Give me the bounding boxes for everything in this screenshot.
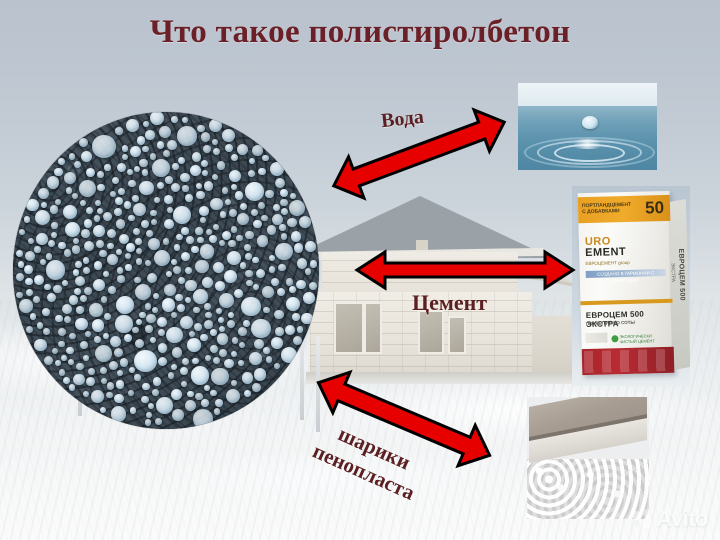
foam-bead [128, 215, 135, 222]
foam-bead [42, 308, 50, 316]
foam-bead [108, 286, 116, 294]
foam-bead [175, 294, 183, 302]
foam-bead [94, 336, 101, 343]
foam-bead [254, 339, 264, 349]
foam-bead [209, 235, 217, 243]
foam-bead [202, 277, 213, 288]
foam-bead [178, 277, 185, 284]
foam-bead [193, 307, 200, 314]
foam-bead [210, 390, 216, 396]
foam-bead [75, 318, 88, 331]
foam-bead [101, 378, 107, 384]
foam-bead [267, 225, 277, 235]
foam-bead [171, 116, 178, 123]
foam-bead [116, 380, 124, 388]
cement-label: Цемент [412, 290, 487, 316]
foam-bead [110, 336, 121, 347]
foam-bead [114, 208, 122, 216]
foam-bead [206, 229, 212, 235]
foam-bead [181, 227, 188, 234]
foam-bead [84, 241, 94, 251]
foam-bead [24, 216, 31, 223]
foam-bead [251, 319, 271, 339]
foam-bead [128, 180, 135, 187]
foam-bead [86, 377, 95, 386]
foam-bead [215, 281, 225, 291]
foam-bead [136, 248, 142, 254]
foam-bead [44, 284, 51, 291]
foam-bead [124, 334, 132, 342]
foam-bead [214, 408, 220, 414]
foam-bead [40, 259, 46, 265]
foam-bead [122, 145, 128, 151]
foam-bead [286, 278, 294, 286]
foam-bead [287, 218, 297, 228]
foam-bead [51, 222, 57, 228]
foam-bead [83, 257, 90, 264]
foam-bead [150, 210, 157, 217]
foam-bead [146, 230, 153, 237]
foam-bead [254, 368, 266, 380]
foam-bead [130, 146, 141, 157]
foam-bead [275, 178, 285, 188]
foam-bead [26, 289, 33, 296]
foam-bead [139, 159, 148, 168]
foam-bead [301, 313, 312, 324]
foam-bead [58, 158, 65, 165]
foam-bead [273, 204, 280, 211]
foam-bead [103, 271, 109, 277]
foam-bead [277, 288, 285, 296]
water-horizon [518, 83, 657, 107]
foam-bead [231, 351, 237, 357]
foam-bead [242, 372, 253, 383]
foam-bead [158, 329, 165, 336]
foam-bead [164, 195, 173, 204]
foam-bead [133, 203, 146, 216]
foam-bead [80, 341, 88, 349]
foam-bead [279, 224, 285, 230]
foam-bead [292, 313, 300, 321]
foam-bead [117, 275, 124, 282]
foam-bead [262, 155, 269, 162]
foam-bead [107, 243, 113, 249]
foam-bead [80, 295, 87, 302]
house-window [364, 302, 382, 354]
polystyrene-concrete-sample [13, 112, 319, 429]
foam-bead [224, 359, 234, 369]
foam-bead [245, 231, 253, 239]
foam-bead [303, 292, 315, 304]
foam-bead [75, 261, 82, 268]
foam-bead [258, 168, 266, 176]
foam-bead [192, 152, 201, 161]
foam-bead [89, 303, 103, 317]
foam-bead [163, 238, 169, 244]
foam-bead [134, 350, 157, 373]
water-droplet-photo [518, 83, 657, 170]
foam-bead [252, 383, 261, 392]
foam-bead [251, 209, 258, 216]
foam-bead [269, 266, 275, 272]
foam-bead [69, 153, 76, 160]
foam-bead [266, 356, 273, 363]
water-droplet [582, 116, 598, 129]
foam-bead [197, 237, 204, 244]
foam-bead [16, 250, 23, 257]
foam-bead [25, 278, 32, 285]
foam-bead [177, 304, 186, 313]
bag-divider-band [580, 299, 672, 305]
foam-bead [64, 316, 71, 323]
foam-bead [94, 261, 103, 270]
foam-bead [192, 358, 198, 364]
avito-wordmark: Avito [656, 508, 708, 530]
bag-side-subtext: ЭКСТРА [669, 263, 676, 282]
foam-bead [180, 367, 188, 375]
foam-bead [180, 173, 190, 183]
foam-bead [191, 366, 210, 385]
foam-bead [84, 219, 93, 228]
foam-bead [115, 127, 122, 134]
foam-bead [229, 170, 241, 182]
infographic-canvas: ЕВРОЦЕМ 500 ЭКСТРА ПОРТЛАНДЦЕМЕНТ С ДОБА… [0, 0, 720, 540]
foam-bead [210, 329, 217, 336]
foam-bead [185, 267, 192, 274]
foam-bead [281, 233, 287, 239]
foam-bead [63, 377, 70, 384]
foam-bead [253, 220, 261, 228]
foam-bead [245, 182, 263, 200]
foam-bead [38, 188, 49, 199]
foam-bead [195, 227, 202, 234]
water-label: Вода [380, 106, 425, 133]
foam-bead [73, 374, 84, 385]
foam-bead [142, 383, 150, 391]
cement-bag: ЕВРОЦЕМ 500 ЭКСТРА ПОРТЛАНДЦЕМЕНТ С ДОБА… [578, 191, 675, 375]
foam-bead [209, 119, 222, 132]
foam-bead [126, 243, 134, 251]
foam-bead [157, 182, 164, 189]
foam-bead [158, 343, 168, 353]
foam-bead [211, 368, 228, 385]
foam-bead [154, 197, 160, 203]
foam-bead [205, 355, 211, 361]
foam-bead [219, 240, 225, 246]
foam-bead [278, 264, 286, 272]
foam-bead [280, 199, 287, 206]
foam-bead [150, 153, 156, 159]
foam-bead [145, 419, 152, 426]
foam-bead [79, 180, 96, 197]
bag-logo-subtitle: ЕВРОЦЕМЕНТ group [585, 259, 665, 266]
foam-bead [126, 119, 138, 131]
foam-bead [204, 181, 213, 190]
foam-bead [261, 215, 267, 221]
foam-bead [210, 198, 223, 211]
foam-bead [167, 207, 173, 213]
foam-bead [252, 145, 263, 156]
foam-bead [69, 333, 76, 340]
foam-bead [235, 191, 243, 199]
foam-bead [174, 244, 180, 250]
foam-bead [152, 389, 159, 396]
foam-bead [117, 163, 126, 172]
foam-bead [217, 333, 229, 345]
foam-bead [165, 176, 173, 184]
foam-bead [30, 313, 36, 319]
foam-bead [187, 338, 200, 351]
foam-bead [46, 253, 53, 260]
foam-bead [269, 255, 275, 261]
foam-bead [53, 285, 62, 294]
foam-bead [34, 246, 40, 252]
foam-bead [26, 199, 38, 211]
foam-bead [236, 235, 243, 242]
foam-bead [116, 249, 122, 255]
foam-bead [62, 280, 68, 286]
foam-bead [231, 154, 238, 161]
foam-bead [101, 296, 107, 302]
foam-bead [166, 327, 183, 344]
foam-bead [173, 266, 181, 274]
foam-bead [146, 412, 152, 418]
foam-bead [135, 339, 144, 348]
foam-bead [263, 347, 270, 354]
foam-bead [241, 297, 260, 316]
bag-bottom-band [582, 347, 675, 375]
foam-bead [41, 202, 47, 208]
foam-bead [52, 348, 58, 354]
foam-bead [92, 319, 104, 331]
bag-logo: URO EMENT ЕВРОЦЕМЕНТ group [585, 235, 666, 266]
foam-bead [66, 187, 73, 194]
foam-bead [172, 163, 179, 170]
foam-bead-pile [527, 459, 649, 519]
foam-bead [193, 289, 208, 304]
foam-bead [220, 211, 227, 218]
foam-bead [219, 293, 234, 308]
foam-bead [139, 312, 145, 318]
foam-bead [204, 320, 213, 329]
foam-bead [191, 246, 199, 254]
foam-bead [19, 299, 33, 313]
foam-bead [58, 242, 66, 250]
foam-bead [262, 286, 274, 298]
foam-bead [103, 333, 109, 339]
foam-bead [116, 296, 134, 314]
foam-bead [83, 267, 90, 274]
avito-logo-icon [632, 509, 652, 529]
foam-bead [116, 219, 126, 229]
foam-bead [107, 254, 118, 265]
foam-bead [16, 292, 22, 298]
foam-bead [55, 199, 61, 205]
foam-bead [81, 229, 90, 238]
foam-bead [265, 190, 273, 198]
foam-bead [222, 187, 229, 194]
foam-bead [215, 399, 223, 407]
avito-watermark: Avito [632, 508, 708, 530]
foam-bead [305, 268, 311, 274]
foam-bead [219, 349, 227, 357]
foam-bead [205, 312, 211, 318]
foam-bead [18, 261, 24, 267]
foam-bead [117, 267, 123, 273]
foam-bead [46, 260, 65, 279]
foam-bead [199, 206, 209, 216]
foam-bead [172, 409, 184, 421]
foam-bead [104, 164, 110, 170]
foam-bead [136, 258, 143, 265]
foam-bead [151, 219, 157, 225]
foam-bead [185, 280, 196, 291]
house-window [418, 310, 444, 354]
foam-bead [134, 374, 140, 380]
foam-board-photo [527, 397, 649, 519]
foam-bead [224, 270, 237, 283]
foam-bead [245, 253, 251, 259]
cement-bag-photo: ЕВРОЦЕМ 500 ЭКСТРА ПОРТЛАНДЦЕМЕНТ С ДОБА… [572, 186, 690, 386]
foam-bead [93, 225, 105, 237]
foam-bead [114, 394, 123, 403]
foam-bead [24, 265, 33, 274]
foam-bead [97, 184, 104, 191]
foam-bead [148, 403, 154, 409]
foam-bead [187, 391, 193, 397]
foam-bead [200, 244, 214, 258]
house-window [334, 302, 364, 354]
foam-bead [125, 264, 131, 270]
foam-bead [270, 162, 284, 176]
foam-bead [146, 314, 155, 323]
foam-bead [76, 306, 84, 314]
cement-arrow [355, 250, 575, 290]
foam-bead [107, 382, 114, 389]
foam-bead [201, 132, 210, 141]
foam-bead [305, 241, 316, 252]
foam-bead [210, 345, 218, 353]
bag-logo-cement: EMENT [585, 246, 665, 259]
foam-bead [275, 327, 284, 336]
foam-bead [180, 316, 193, 329]
foam-bead [272, 214, 283, 225]
foam-bead [95, 200, 101, 206]
foam-bead [69, 295, 78, 304]
foam-bead [47, 176, 60, 189]
foam-bead [111, 406, 127, 422]
foam-bead [263, 307, 270, 314]
foam-bead [177, 126, 197, 146]
foam-bead [197, 125, 204, 132]
foam-bead [171, 364, 177, 370]
foam-bead [227, 320, 235, 328]
foam-bead [58, 328, 66, 336]
foam-bead [248, 170, 255, 177]
foam-bead [289, 200, 305, 216]
foam-bead [73, 269, 79, 275]
foam-bead [167, 140, 177, 150]
page-title: Что такое полистиролбетон [0, 14, 720, 51]
foam-bead [286, 297, 300, 311]
foam-bead [243, 320, 250, 327]
foam-bead [100, 367, 107, 374]
house-window [448, 316, 466, 354]
foam-bead [86, 207, 93, 214]
foam-bead [142, 146, 148, 152]
foam-bead [99, 250, 106, 257]
foam-bead [195, 260, 208, 273]
foam-bead [217, 161, 225, 169]
bag-icon-strip [585, 333, 607, 344]
foam-bead [139, 181, 154, 196]
bag-tagline: СОЗДАНО В ГАРМОНИИ С ПРИРОДОЙ [586, 269, 666, 278]
foam-bead [231, 380, 237, 386]
foam-bead [168, 372, 175, 379]
foam-bead [132, 327, 138, 333]
foam-bead [186, 236, 194, 244]
foam-bead [120, 358, 128, 366]
foam-bead [310, 260, 317, 267]
foam-bead [299, 216, 311, 228]
bag-eco-line2: ЧИСТЫЙ ЦЕМЕНТ [619, 338, 654, 344]
foam-bead [92, 135, 115, 158]
foam-bead [182, 185, 188, 191]
foam-bead [271, 278, 279, 286]
foam-bead [201, 399, 208, 406]
foam-bead [141, 220, 149, 228]
bag-grade-number: 50 [645, 199, 664, 216]
bag-top-band: ПОРТЛАНДЦЕМЕНТ С ДОБАВКАМИ 50 [578, 195, 671, 223]
foam-bead [91, 390, 104, 403]
foam-bead [274, 310, 283, 319]
foam-bead [107, 229, 116, 238]
foam-bead [176, 234, 182, 240]
foam-bead [249, 352, 262, 365]
foam-bead [62, 304, 72, 314]
foam-bead [132, 195, 139, 202]
foam-bead [97, 171, 104, 178]
foam-bead [76, 363, 83, 370]
foam-bead [252, 257, 258, 263]
foam-bead [134, 277, 140, 283]
foam-bead [28, 238, 34, 244]
foam-bead [115, 315, 132, 332]
foam-bead [289, 286, 296, 293]
foam-bead [240, 262, 247, 269]
foam-bead [148, 238, 160, 250]
foam-bead [155, 418, 162, 425]
bag-top-line2: С ДОБАВКАМИ [582, 208, 630, 215]
foam-bead [145, 130, 154, 139]
foam-bead [229, 209, 237, 217]
foam-bead [200, 334, 207, 341]
foam-bead [55, 315, 62, 322]
foam-bead [240, 203, 247, 210]
eco-leaf-icon [611, 335, 618, 342]
foam-bead [245, 270, 253, 278]
foam-bead [227, 251, 241, 265]
foam-bead [297, 326, 304, 333]
foam-bead [136, 319, 142, 325]
foam-bead [294, 243, 303, 252]
foam-bead [129, 367, 135, 373]
foam-bead [64, 249, 71, 256]
